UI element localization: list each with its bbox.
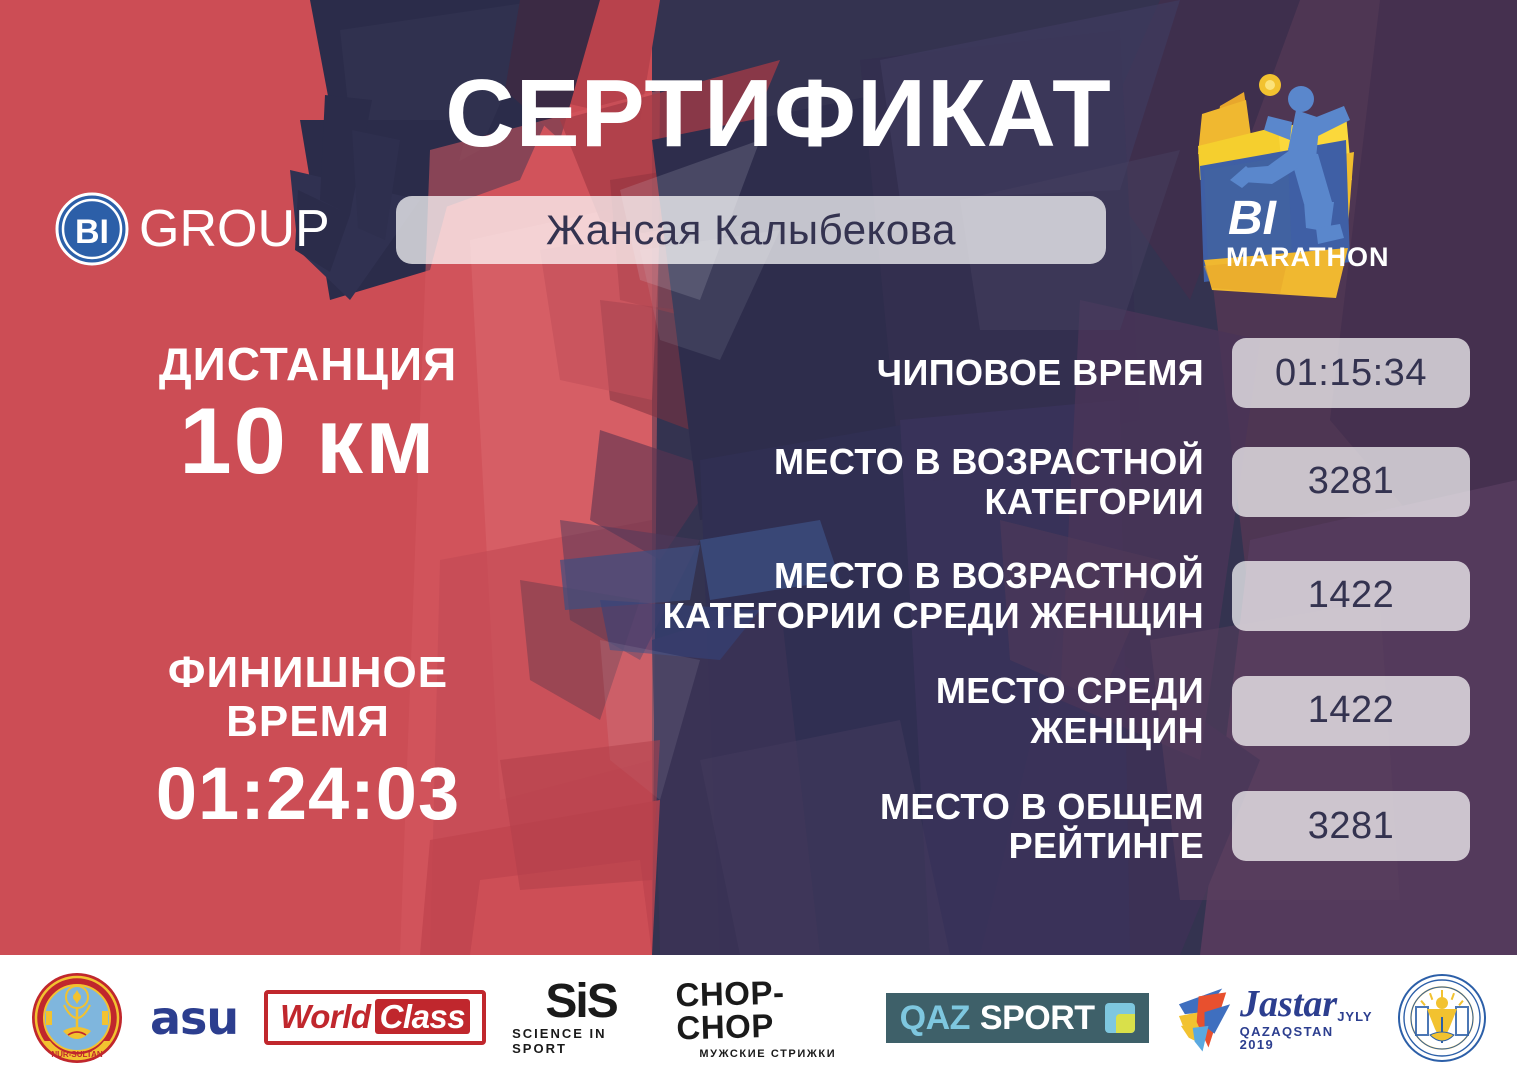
bi-group-logo: BI GROUP (55, 192, 330, 266)
stat-row: МЕСТО В ВОЗРАСТНОЙ КАТЕГОРИИ 3281 (520, 442, 1470, 521)
chop-chop-wordmark: CHOP-CHOP (675, 973, 860, 1044)
distance-value: 10 км (28, 392, 588, 491)
stats-list: ЧИПОВОЕ ВРЕМЯ 01:15:34 МЕСТО В ВОЗРАСТНО… (520, 338, 1470, 889)
sponsor-logo-asu: asu (150, 991, 238, 1045)
certificate-canvas: СЕРТИФИКАТ Жансая Калыбекова BI GROUP (0, 0, 1517, 1080)
bi-marathon-line2: MARATHON (1226, 242, 1389, 272)
jastar-arrow-icon (1175, 982, 1236, 1054)
bi-group-circle-icon: BI (55, 192, 129, 266)
qazsport-text-2: SPORT (980, 1001, 1095, 1035)
stat-value: 1422 (1232, 676, 1470, 746)
stat-value: 3281 (1232, 447, 1470, 517)
stat-label: ЧИПОВОЕ ВРЕМЯ (520, 353, 1232, 393)
sponsor-logo-qazsport: QAZ SPORT (886, 993, 1149, 1043)
stat-row: МЕСТО СРЕДИ ЖЕНЩИН 1422 (520, 671, 1470, 750)
stat-row: МЕСТО В ВОЗРАСТНОЙ КАТЕГОРИИ СРЕДИ ЖЕНЩИ… (520, 556, 1470, 635)
sponsor-logo-ministry (1397, 973, 1487, 1063)
stat-value: 1422 (1232, 561, 1470, 631)
sponsor-strip: NUR-SULTAN asu World Class SiS SCIENCE I… (0, 955, 1517, 1080)
stat-label: МЕСТО СРЕДИ ЖЕНЩИН (520, 671, 1232, 750)
jastar-jyly-sup: JYLY (1337, 1010, 1372, 1023)
jastar-subtitle: QAZAQSTAN 2019 (1240, 1025, 1371, 1051)
qazsport-text-1: QAZ (900, 1001, 970, 1035)
sponsor-logo-chop-chop: CHOP-CHOP МУЖСКИЕ СТРИЖКИ (676, 976, 860, 1060)
stat-label: МЕСТО В ВОЗРАСТНОЙ КАТЕГОРИИ СРЕДИ ЖЕНЩИ… (520, 556, 1232, 635)
distance-block: ДИСТАНЦИЯ 10 км (28, 340, 588, 491)
ministry-emblem-icon (1397, 973, 1487, 1063)
nur-sultan-emblem-icon: NUR-SULTAN (30, 971, 124, 1065)
stat-row: ЧИПОВОЕ ВРЕМЯ 01:15:34 (520, 338, 1470, 408)
stat-label: МЕСТО В ВОЗРАСТНОЙ КАТЕГОРИИ (520, 442, 1232, 521)
stat-label: МЕСТО В ОБЩЕМ РЕЙТИНГЕ (520, 787, 1232, 866)
bi-marathon-line1: BI (1228, 192, 1278, 245)
sis-wordmark: SiS (545, 979, 616, 1025)
bi-group-wordmark: GROUP (139, 203, 330, 255)
sis-tagline: SCIENCE IN SPORT (512, 1026, 650, 1056)
jastar-wordmark: Jastar (1240, 985, 1337, 1023)
bi-marathon-logo: BI MARATHON (1168, 62, 1408, 308)
sponsor-logo-sis: SiS SCIENCE IN SPORT (512, 979, 650, 1056)
stat-value: 3281 (1232, 791, 1470, 861)
world-class-text-2: Class (375, 999, 471, 1034)
stat-value: 01:15:34 (1232, 338, 1470, 408)
svg-text:NUR-SULTAN: NUR-SULTAN (51, 1050, 102, 1059)
finish-time-label: ФИНИШНОЕ ВРЕМЯ (28, 648, 588, 747)
participant-name-pill: Жансая Калыбекова (396, 196, 1106, 264)
sponsor-logo-world-class: World Class (264, 990, 486, 1045)
asu-wordmark: asu (150, 991, 238, 1045)
sponsor-logo-nur-sultan: NUR-SULTAN (30, 971, 124, 1065)
jastar-wordmark-group: Jastar JYLY QAZAQSTAN 2019 (1240, 985, 1371, 1051)
finish-time-block: ФИНИШНОЕ ВРЕМЯ 01:24:03 (28, 648, 588, 834)
stat-row: МЕСТО В ОБЩЕМ РЕЙТИНГЕ 3281 (520, 787, 1470, 866)
participant-name: Жансая Калыбекова (546, 206, 956, 254)
chop-chop-tagline: МУЖСКИЕ СТРИЖКИ (699, 1048, 836, 1060)
qazsport-square-icon (1105, 1003, 1135, 1033)
finish-time-value: 01:24:03 (28, 753, 588, 834)
svg-text:BI: BI (75, 213, 109, 251)
sponsor-logo-jastar-jyly: Jastar JYLY QAZAQSTAN 2019 (1175, 982, 1371, 1054)
distance-label: ДИСТАНЦИЯ (28, 340, 588, 388)
world-class-text-1: World (280, 1000, 370, 1033)
